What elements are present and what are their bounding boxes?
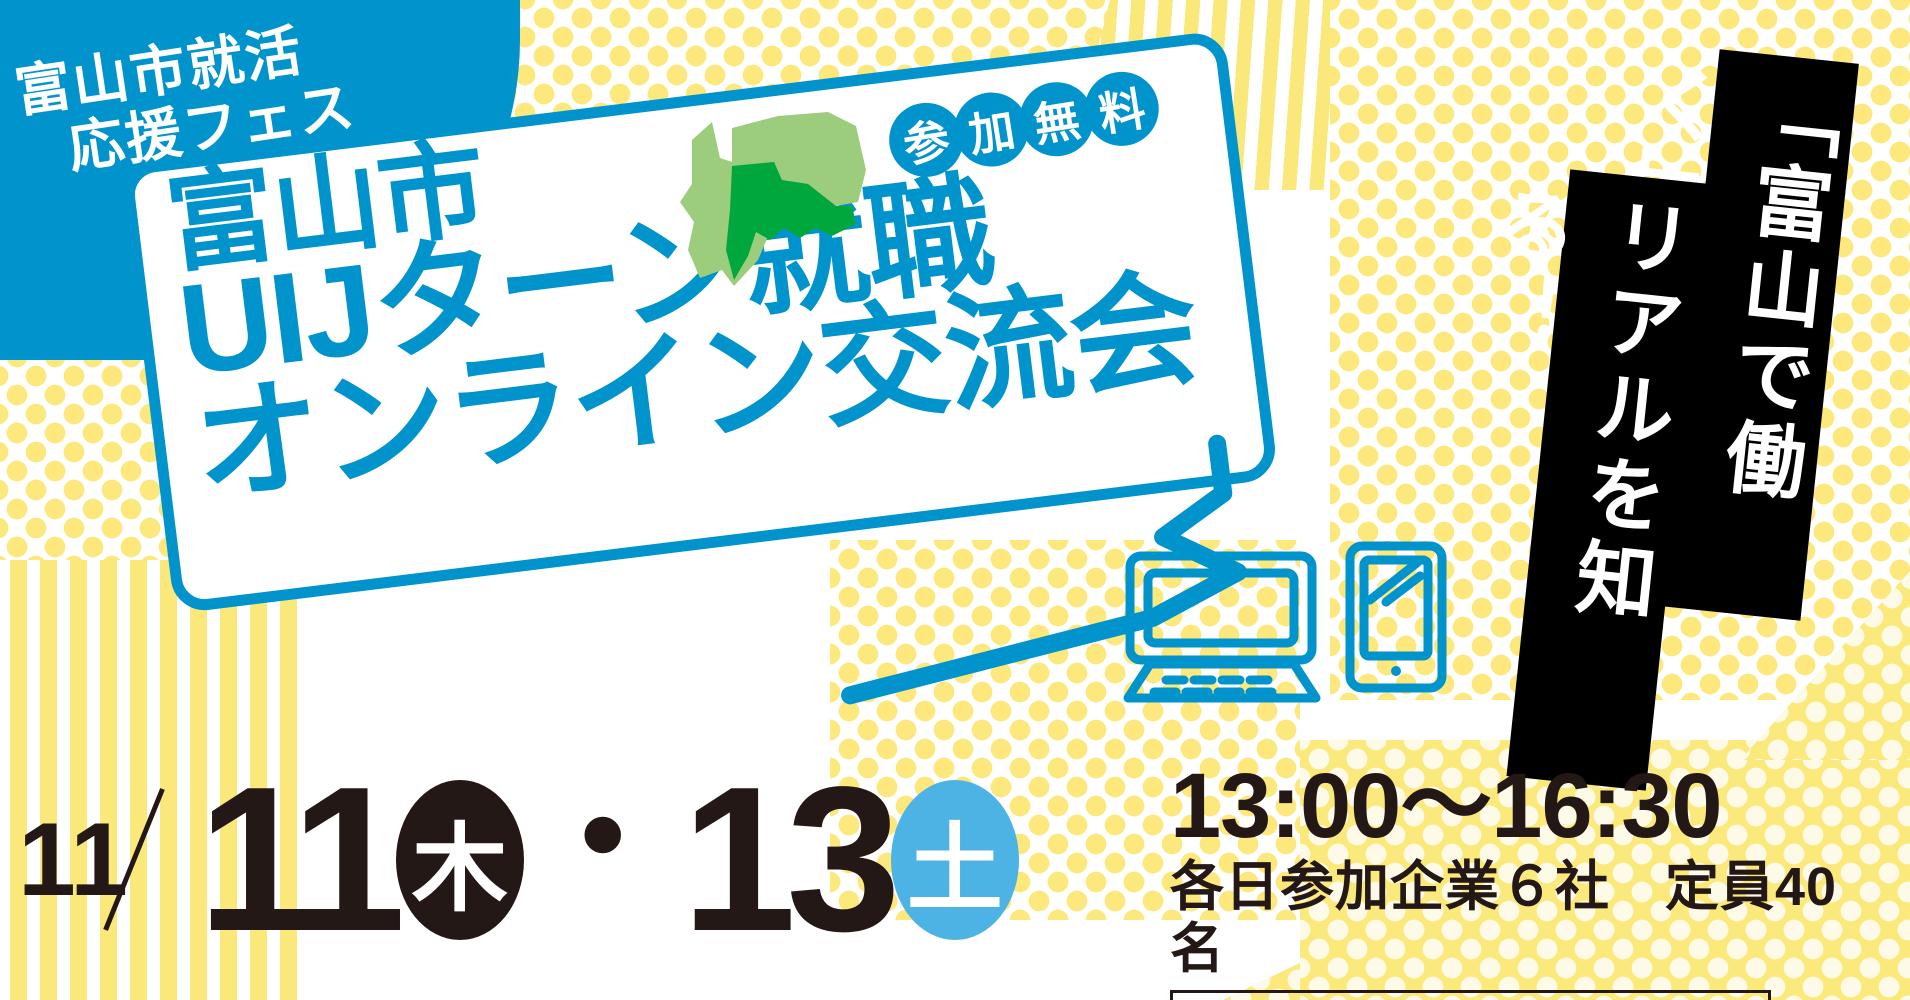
date-day-2: 13 bbox=[682, 769, 891, 950]
toyama-prefecture-map-icon bbox=[660, 110, 890, 300]
date-slash bbox=[128, 785, 198, 935]
event-time: 13:00〜16:30 bbox=[1170, 760, 1890, 852]
event-capacity: 各日参加企業６社 定員40名 bbox=[1170, 856, 1890, 980]
date-weekday-2: 土 bbox=[891, 780, 1019, 940]
event-poster: 富山市就活 応援フェス 富山市 UIJターン就職 オンライン交流会 参 加 無 … bbox=[0, 0, 1910, 1000]
event-info-block: 13:00〜16:30 各日参加企業６社 定員40名 どちらかでも両日でも参加O… bbox=[1170, 760, 1890, 1000]
device-icons-group bbox=[1118, 540, 1468, 710]
date-separator-dot: ・ bbox=[524, 795, 682, 925]
laptop-icon bbox=[1128, 556, 1316, 698]
event-date-block: 11 11 木 ・ 13 土 bbox=[18, 760, 1019, 960]
date-month: 11 bbox=[18, 808, 128, 912]
date-day-1: 11 bbox=[198, 769, 396, 950]
participation-note: どちらかでも両日でも参加OK bbox=[1170, 990, 1771, 1000]
date-weekday-1: 木 bbox=[396, 780, 524, 940]
